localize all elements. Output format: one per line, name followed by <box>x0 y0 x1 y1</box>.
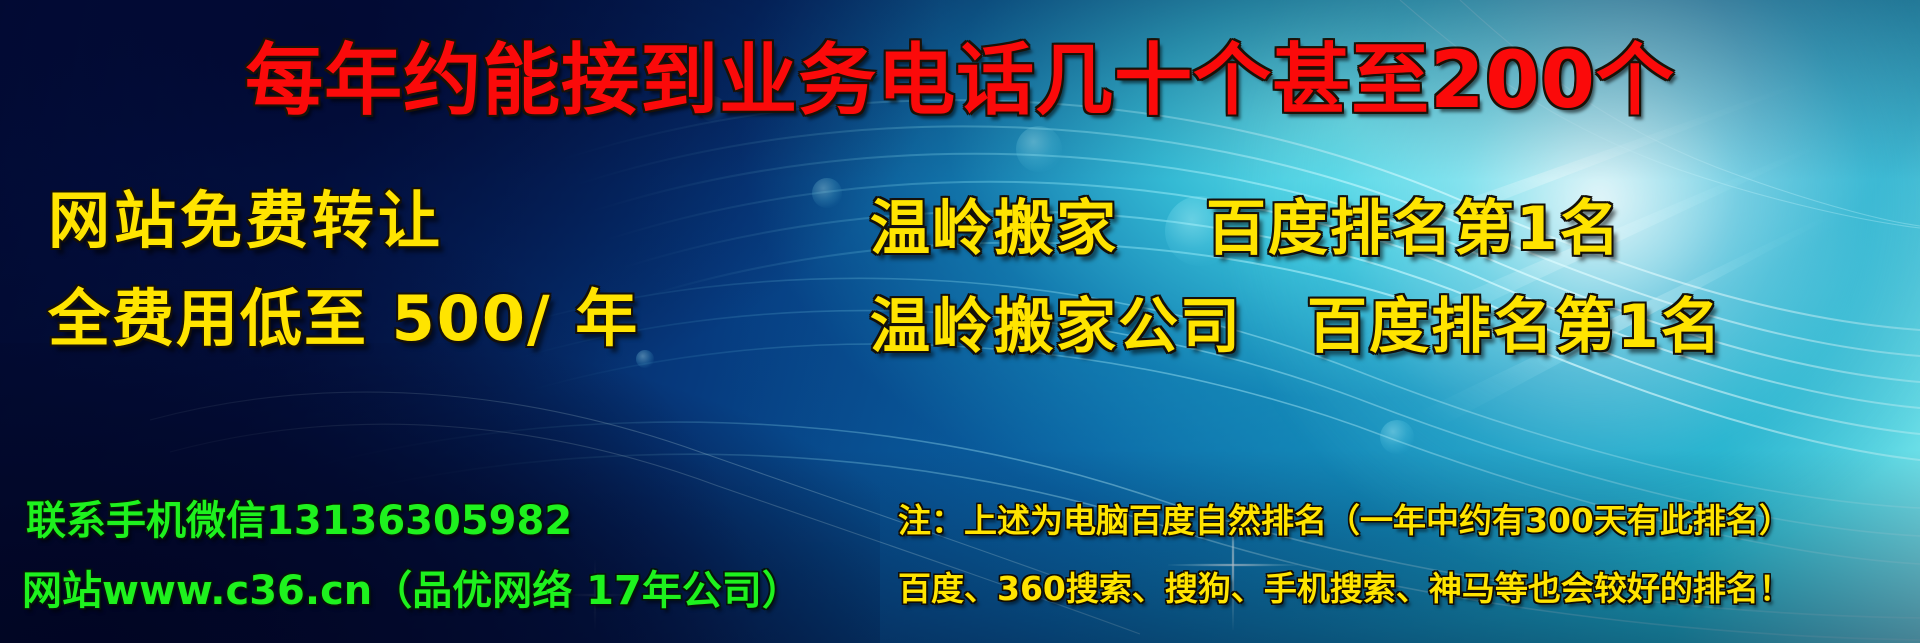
ranking-row-1: 温岭搬家 百度排名第1名 <box>870 180 1622 267</box>
ranking-row-2-result: 百度排名第1名 <box>1307 292 1723 362</box>
ranking-row-1-result: 百度排名第1名 <box>1206 194 1622 264</box>
contact-phone-text: 联系手机微信13136305982 <box>26 488 572 546</box>
headline-text: 每年约能接到业务电话几十个甚至200个 <box>0 18 1920 130</box>
ranking-row-1-service: 温岭搬家 <box>870 194 1118 264</box>
promo-banner: 每年约能接到业务电话几十个甚至200个 网站免费转让 全费用低至 500/ 年 … <box>0 0 1920 643</box>
note-line-1: 注：上述为电脑百度自然排名（一年中约有300天有此排名） <box>898 494 1792 542</box>
offer-line-1: 网站免费转让 <box>48 170 444 260</box>
ranking-row-2-spacer <box>1263 292 1286 362</box>
ranking-row-2-service: 温岭搬家公司 <box>870 292 1242 362</box>
note-line-2: 百度、360搜索、搜狗、手机搜索、神马等也会较好的排名！ <box>898 562 1792 610</box>
ranking-row-2: 温岭搬家公司 百度排名第1名 <box>870 278 1723 365</box>
offer-line-2: 全费用低至 500/ 年 <box>48 268 639 358</box>
ranking-row-1-spacer <box>1139 194 1185 264</box>
contact-website-text: 网站www.c36.cn（品优网络 17年公司） <box>22 558 802 616</box>
